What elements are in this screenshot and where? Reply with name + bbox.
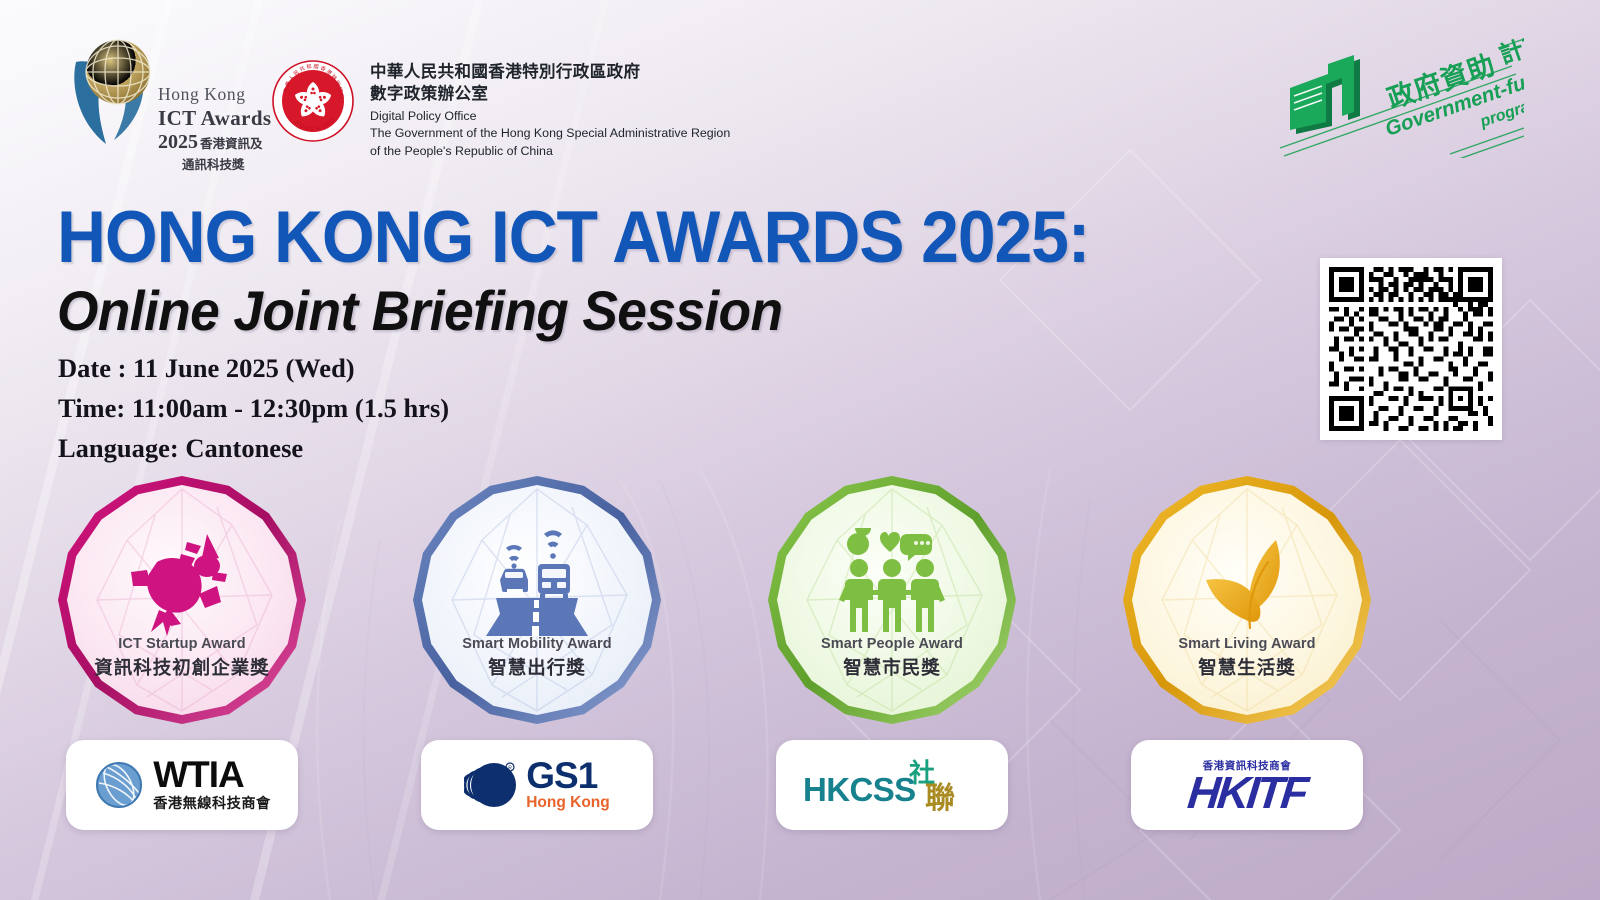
hkict-year: 2025: [158, 131, 198, 154]
hkict-year-row: 2025 香港資訊及: [158, 131, 288, 154]
badge-label-zh: 智慧生活獎: [1123, 654, 1371, 680]
page-subtitle: Online Joint Briefing Session: [57, 278, 782, 343]
badge-caption: Smart Mobility Award 智慧出行獎: [413, 636, 661, 680]
government-en-line3: of the People's Republic of China: [370, 143, 730, 161]
funded-building-icon: 政府資助 計劃 Government-funded programme: [1274, 38, 1524, 158]
award-badge-smart-people[interactable]: Smart People Award 智慧市民獎: [768, 476, 1016, 724]
page-title: HONG KONG ICT AWARDS 2025:: [57, 196, 1089, 279]
badge-caption: Smart People Award 智慧市民獎: [768, 636, 1016, 680]
leaves-icon: [1188, 528, 1306, 636]
badge-label-en: ICT Startup Award: [58, 636, 306, 652]
badge-label-en: Smart Mobility Award: [413, 636, 661, 652]
badge-caption: ICT Startup Award 資訊科技初創企業獎: [58, 636, 306, 680]
three-people-icon: [833, 528, 951, 636]
gs1-wordmark: GS1: [526, 758, 597, 794]
hkcss-zh-lian: 聯: [925, 773, 955, 817]
qr-code[interactable]: [1320, 258, 1502, 440]
gs1-region-label: Hong Kong: [526, 794, 610, 812]
event-details: Date : 11 June 2025 (Wed) Time: 11:00am …: [58, 348, 449, 468]
partner-logo-hkcss[interactable]: HKCSS 社 聯: [776, 740, 1008, 830]
hkict-awards-logo-text: Hong Kong ICT Awards 2025 香港資訊及 通訊科技獎: [158, 84, 288, 173]
partner-logo-gs1[interactable]: R GS1 Hong Kong: [421, 740, 653, 830]
svg-text:計劃: 計劃: [1496, 38, 1524, 70]
government-logo-text: 中華人民共和國香港特別行政區政府 數字政策辦公室 Digital Policy …: [370, 61, 730, 160]
hkict-zh1: 香港資訊及: [200, 137, 263, 151]
wtia-zh-name: 香港無線科技商會: [153, 793, 271, 813]
badge-label-en: Smart Living Award: [1123, 636, 1371, 652]
gs1-swirl-icon: R: [464, 758, 518, 812]
rocket-icon: [123, 528, 241, 636]
qr-code-modules: [1329, 267, 1493, 431]
badge-label-zh: 智慧出行獎: [413, 654, 661, 680]
hkict-awards-logo: Hong Kong ICT Awards 2025 香港資訊及 通訊科技獎: [58, 30, 288, 160]
badge-label-en: Smart People Award: [768, 636, 1016, 652]
badge-label-zh: 資訊科技初創企業獎: [58, 654, 306, 680]
government-zh-line2: 數字政策辦公室: [370, 83, 730, 105]
government-funded-programme-logo: 政府資助 計劃 Government-funded programme: [1274, 38, 1524, 158]
wtia-wordmark: WTIA: [153, 757, 244, 792]
award-badges-row: ICT Startup Award 資訊科技初創企業獎: [0, 476, 1600, 726]
partner-logo-wtia[interactable]: WTIA 香港無線科技商會: [66, 740, 298, 830]
award-badge-smart-living[interactable]: Smart Living Award 智慧生活獎: [1123, 476, 1371, 724]
partner-logo-hkitf[interactable]: 香港資訊科技商會 HKITF: [1131, 740, 1363, 830]
header-logos: Hong Kong ICT Awards 2025 香港資訊及 通訊科技獎: [0, 0, 1600, 176]
wtia-globe-icon: [93, 759, 145, 811]
award-badge-smart-mobility[interactable]: Smart Mobility Award 智慧出行獎: [413, 476, 661, 724]
hkict-line2: ICT Awards: [158, 106, 288, 131]
partner-logos-row: WTIA 香港無線科技商會 R: [0, 740, 1600, 840]
government-en-line2: The Government of the Hong Kong Special …: [370, 125, 730, 143]
hkitf-wordmark: HKITF: [1186, 773, 1308, 813]
road-vehicles-icon: [478, 528, 596, 636]
svg-text:R: R: [508, 765, 512, 771]
hkcss-wordmark: HKCSS: [803, 771, 916, 809]
detail-date: Date : 11 June 2025 (Wed): [58, 348, 449, 388]
detail-time: Time: 11:00am - 12:30pm (1.5 hrs): [58, 388, 449, 428]
hk-bauhinia-emblem-icon: 中 華 人 民 共 和 國 香 港 特 別 行 政 區 HONG KONG: [272, 60, 354, 142]
award-badge-ict-startup[interactable]: ICT Startup Award 資訊科技初創企業獎: [58, 476, 306, 724]
government-en-line1: Digital Policy Office: [370, 108, 730, 126]
detail-language: Language: Cantonese: [58, 428, 449, 468]
hksar-government-logo: 中 華 人 民 共 和 國 香 港 特 別 行 政 區 HONG KONG 中華…: [272, 58, 742, 158]
poster-canvas: Hong Kong ICT Awards 2025 香港資訊及 通訊科技獎: [0, 0, 1600, 900]
hkict-line1: Hong Kong: [158, 84, 288, 105]
globe-icon: [66, 32, 158, 148]
badge-caption: Smart Living Award 智慧生活獎: [1123, 636, 1371, 680]
government-zh-line1: 中華人民共和國香港特別行政區政府: [370, 61, 730, 83]
badge-label-zh: 智慧市民獎: [768, 654, 1016, 680]
